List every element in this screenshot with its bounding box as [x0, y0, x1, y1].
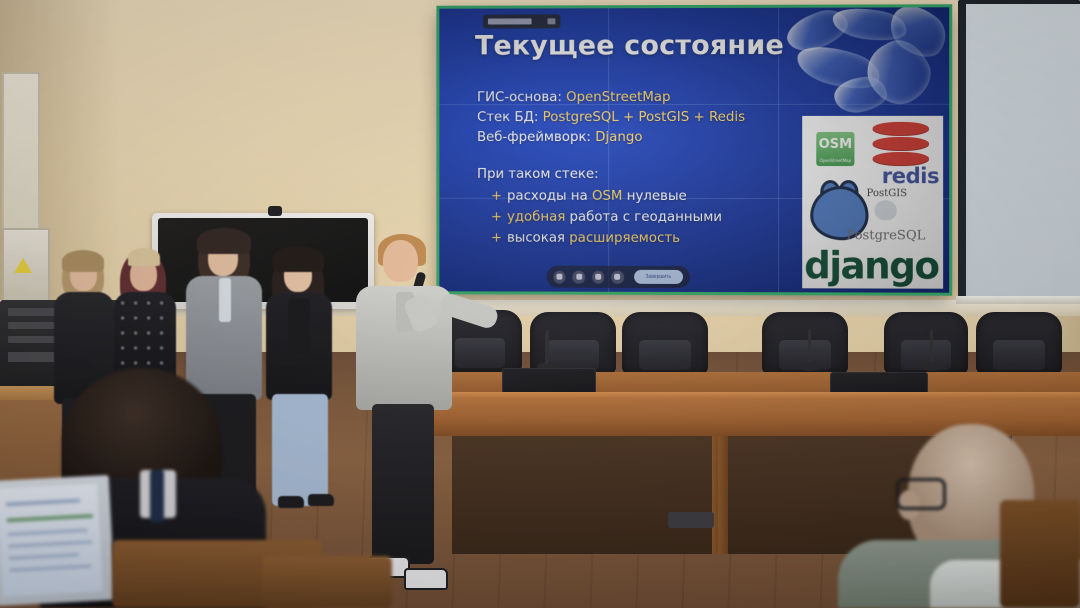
- fact-value: Django: [595, 130, 642, 145]
- video-wall-display[interactable]: Текущее состояние ГИС-основа: OpenStreet…: [439, 7, 949, 292]
- audience-chair: [262, 556, 392, 608]
- fact-value: PostgreSQL + PostGIS + Redis: [543, 110, 745, 125]
- django-logo-label: django: [804, 244, 938, 287]
- bullet-plus-icon: +: [491, 210, 502, 225]
- bullet-text: работа с геоданными: [565, 210, 722, 225]
- fact-row-framework: Веб-фреймворк: Django: [477, 128, 806, 148]
- desk-microphone-base: [921, 362, 943, 371]
- slide-lead-text: При таком стеке:: [477, 165, 806, 185]
- bullet-text: высокая: [507, 231, 569, 246]
- list-item: +высокая расширяемость: [491, 229, 806, 250]
- redis-label: redis: [882, 164, 939, 188]
- technology-logos-panel: OSM OpenStreetMap redis PostGIS PostgreS…: [802, 116, 943, 289]
- bullet-highlight: расширяемость: [569, 231, 680, 246]
- redis-logo-icon: [873, 122, 929, 166]
- table-leg: [718, 436, 728, 554]
- committee-chair: [976, 312, 1062, 374]
- fact-key: Стек БД:: [477, 110, 538, 125]
- fact-value: OpenStreetMap: [566, 90, 670, 105]
- bullet-plus-icon: +: [491, 189, 502, 204]
- cable-tray: [668, 512, 714, 528]
- conference-control-bar[interactable]: Завершить: [546, 266, 690, 288]
- desk-microphone-base: [799, 362, 821, 371]
- postgis-mark-icon: [875, 200, 897, 220]
- bullet-text: нулевые: [622, 189, 686, 204]
- webcam-icon: [268, 206, 282, 216]
- wall-conduit: [2, 72, 40, 236]
- desk-microphone: [545, 334, 548, 364]
- list-item: +расходы на OSM нулевые: [491, 187, 806, 207]
- fact-row-gis: ГИС-основа: OpenStreetMap: [477, 88, 806, 108]
- postgis-label: PostGIS: [867, 188, 908, 199]
- bullet-plus-icon: +: [491, 231, 502, 246]
- camera-icon[interactable]: [573, 270, 585, 283]
- projection-screen-rail: [956, 296, 1080, 304]
- volume-icon[interactable]: [611, 270, 623, 283]
- openstreetmap-logo-icon: OSM OpenStreetMap: [816, 132, 854, 166]
- bullet-highlight: OSM: [592, 189, 622, 204]
- audience-laptop[interactable]: [0, 475, 115, 606]
- glasses-icon: [896, 478, 946, 510]
- audience-laptop-screen: [0, 484, 103, 597]
- fact-key: ГИС-основа:: [477, 90, 562, 105]
- electrical-warning-icon: [14, 258, 32, 273]
- screen-share-icon[interactable]: [592, 270, 604, 283]
- projection-screen: [966, 4, 1080, 296]
- fact-key: Веб-фреймворк:: [477, 130, 591, 145]
- committee-chair: [622, 312, 708, 374]
- presentation-room-photo: Текущее состояние ГИС-основа: OpenStreet…: [0, 0, 1080, 608]
- participant-name-label: [483, 14, 560, 28]
- postgresql-label: PostgreSQL: [846, 228, 925, 243]
- desk-microphone: [930, 330, 933, 364]
- mic-icon[interactable]: [553, 270, 565, 283]
- bullet-text: расходы на: [507, 189, 592, 204]
- list-item: +удобная работа с геоданными: [491, 208, 806, 228]
- bullet-highlight: удобная: [507, 210, 565, 225]
- audience-chair: [1000, 500, 1080, 608]
- desk-microphone: [808, 330, 811, 364]
- slide-bullet-list: +расходы на OSM нулевые +удобная работа …: [491, 187, 806, 249]
- end-call-button[interactable]: Завершить: [634, 270, 683, 284]
- fact-row-db: Стек БД: PostgreSQL + PostGIS + Redis: [477, 108, 806, 128]
- slide-title: Текущее состояние: [475, 30, 784, 62]
- slide-body: ГИС-основа: OpenStreetMap Стек БД: Postg…: [477, 88, 806, 249]
